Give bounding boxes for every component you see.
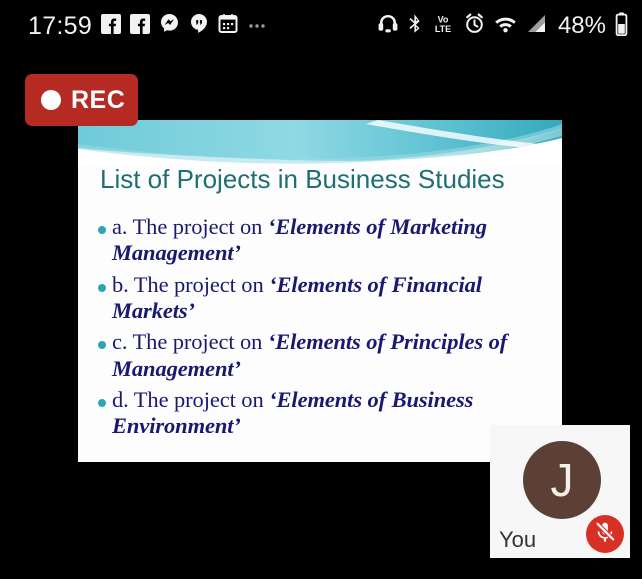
more-notifications-icon xyxy=(247,17,267,35)
bullet-dot-icon xyxy=(98,399,106,407)
list-item: a. The project on ‘Elements of Marketing… xyxy=(94,214,552,267)
hangouts-icon xyxy=(189,13,209,39)
svg-text:LTE: LTE xyxy=(435,24,451,34)
list-item: c. The project on ‘Elements of Principle… xyxy=(94,329,552,382)
recording-label: REC xyxy=(71,88,125,113)
volte-icon: Vo LTE xyxy=(431,13,455,39)
headset-icon xyxy=(377,13,399,39)
status-clock: 17:59 xyxy=(28,14,92,39)
status-bar-left-group: 17:59 xyxy=(28,13,267,39)
self-video-tile[interactable]: J You xyxy=(490,425,630,558)
slide-bullet-list: a. The project on ‘Elements of Marketing… xyxy=(94,214,552,445)
wifi-icon xyxy=(494,13,517,39)
mic-off-badge[interactable] xyxy=(586,515,624,553)
bullet-prefix: c. The project on xyxy=(112,329,268,354)
messenger-icon xyxy=(159,13,180,39)
recording-indicator: REC xyxy=(25,74,138,126)
status-bar: 17:59 xyxy=(0,0,642,52)
bullet-text: b. The project on ‘Elements of Financial… xyxy=(112,272,552,325)
bullet-text: c. The project on ‘Elements of Principle… xyxy=(112,329,552,382)
bullet-dot-icon xyxy=(98,341,106,349)
bullet-dot-icon xyxy=(98,284,106,292)
record-dot-icon xyxy=(41,90,61,110)
bullet-text: d. The project on ‘Elements of Business … xyxy=(112,387,552,440)
battery-icon xyxy=(615,12,628,41)
slide-banner-decoration xyxy=(78,120,562,166)
status-bar-right-group: Vo LTE 48% xyxy=(377,12,628,41)
avatar: J xyxy=(523,441,601,519)
calendar-icon xyxy=(218,13,238,39)
facebook-icon xyxy=(101,14,121,39)
list-item: d. The project on ‘Elements of Business … xyxy=(94,387,552,440)
alarm-icon xyxy=(464,13,485,39)
slide-title: List of Projects in Business Studies xyxy=(100,164,550,195)
cellular-signal-icon xyxy=(526,13,547,39)
bullet-prefix: a. The project on xyxy=(112,214,268,239)
bluetooth-icon xyxy=(408,13,422,39)
participant-name-label: You xyxy=(499,529,536,551)
mic-off-icon xyxy=(593,520,617,549)
bullet-text: a. The project on ‘Elements of Marketing… xyxy=(112,214,552,267)
facebook-icon xyxy=(130,14,150,39)
bullet-prefix: b. The project on xyxy=(112,272,269,297)
bullet-prefix: d. The project on xyxy=(112,387,269,412)
shared-presentation-slide[interactable]: List of Projects in Business Studies a. … xyxy=(78,120,562,462)
battery-percent-label: 48% xyxy=(558,14,606,38)
list-item: b. The project on ‘Elements of Financial… xyxy=(94,272,552,325)
bullet-dot-icon xyxy=(98,226,106,234)
